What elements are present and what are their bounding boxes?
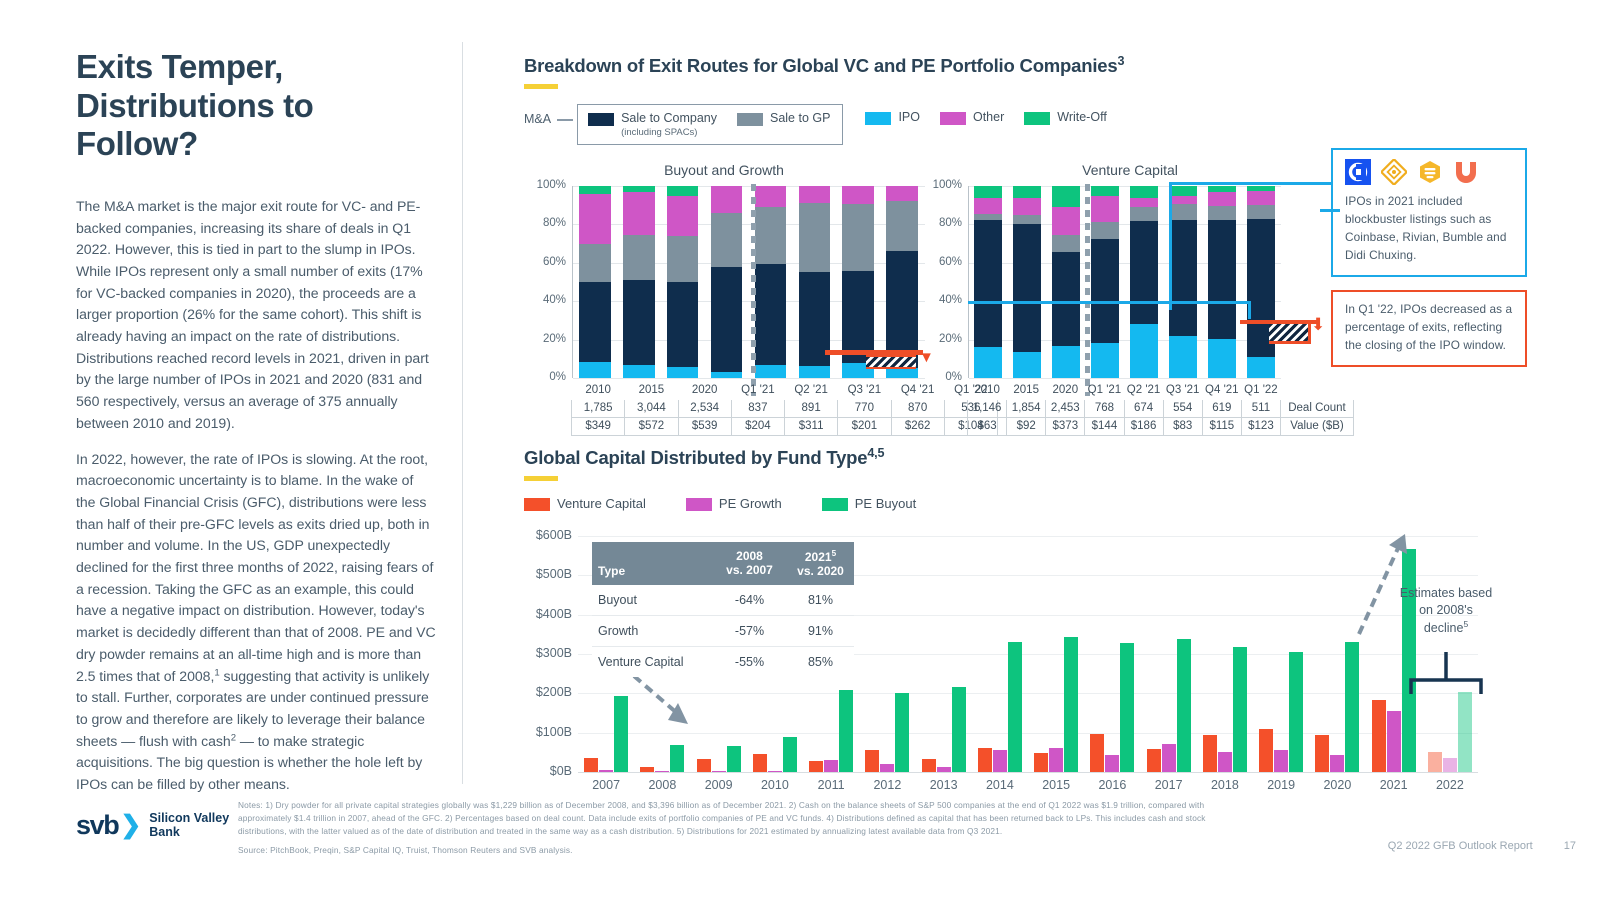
bar-group bbox=[1147, 536, 1191, 772]
buyout-annotation-hatch bbox=[866, 355, 916, 369]
bar-segment bbox=[1052, 252, 1080, 346]
bar bbox=[1064, 637, 1078, 772]
bar-group bbox=[969, 186, 1008, 378]
bar-segment bbox=[1091, 186, 1119, 196]
table-cell: $92 bbox=[1006, 418, 1046, 436]
bar-segment bbox=[1091, 239, 1119, 344]
table-row-label: Value ($B) bbox=[1280, 418, 1354, 436]
legend-swatch-sale-to-gp bbox=[737, 113, 763, 126]
bar-segment bbox=[1052, 186, 1080, 207]
table-cell: $539 bbox=[678, 418, 732, 436]
bar bbox=[1345, 642, 1359, 772]
bar-group bbox=[1086, 186, 1125, 378]
y-tick-label: 100% bbox=[528, 179, 566, 191]
chart-buyout-growth-title: Buyout and Growth bbox=[524, 162, 924, 178]
legend-item-sale-to-gp: Sale to GP bbox=[737, 111, 830, 127]
bar-segment bbox=[579, 186, 611, 194]
stacked-bar bbox=[667, 186, 699, 378]
chart-venture-capital-value-row: $63$92$373$144$186$83$115$123Value ($B) bbox=[968, 418, 1354, 436]
stacked-bar bbox=[711, 186, 743, 378]
stacked-bar bbox=[1130, 186, 1158, 378]
legend-label-sale-to-gp: Sale to GP bbox=[770, 111, 830, 127]
bar bbox=[865, 750, 879, 772]
legend-label-sale-to-company: Sale to Company bbox=[621, 111, 717, 125]
estimate-note-sup: 5 bbox=[1463, 619, 1468, 629]
bar-segment bbox=[1208, 220, 1236, 339]
chart-buyout-growth-value-row: $349$572$539$204$311$201$262$104 bbox=[572, 418, 998, 436]
bar bbox=[809, 761, 823, 772]
comparison-header-type: Type bbox=[592, 542, 712, 585]
legend-swatch-sale-to-company bbox=[588, 113, 614, 126]
comparison-table-body: Buyout-64%81%Growth-57%91%Venture Capita… bbox=[592, 585, 854, 677]
logo-line-1: Silicon Valley bbox=[149, 811, 229, 825]
bar-segment bbox=[1130, 186, 1158, 198]
gridline bbox=[578, 772, 1478, 773]
bar-segment bbox=[1169, 186, 1197, 196]
table-cell: $572 bbox=[624, 418, 678, 436]
chart-venture-capital-categories: 201020152020Q1 '21Q2 '21Q3 '21Q4 '21Q1 '… bbox=[968, 382, 1354, 400]
stacked-bar bbox=[623, 186, 655, 378]
bar-segment bbox=[623, 280, 655, 364]
table-cell: 554 bbox=[1163, 400, 1203, 418]
chart-venture-capital-title: Venture Capital bbox=[930, 162, 1330, 178]
stacked-bar bbox=[1091, 186, 1119, 378]
footer-page-number: 17 bbox=[1564, 840, 1576, 852]
bar-segment bbox=[623, 192, 655, 235]
bar-segment bbox=[711, 372, 743, 378]
bar bbox=[697, 759, 711, 772]
chart-buyout-growth-deal-count-row: 1,7853,0442,534837891770870536 bbox=[572, 400, 998, 418]
vc-annotation-arrow-icon: ⬇ bbox=[1311, 315, 1325, 335]
section-2-header: Global Capital Distributed by Fund Type4… bbox=[524, 446, 884, 481]
stacked-bar bbox=[974, 186, 1002, 378]
bar bbox=[895, 693, 909, 772]
bar-segment bbox=[1169, 220, 1197, 336]
legend-item-pe-growth: PE Growth bbox=[686, 496, 782, 512]
bar-segment bbox=[799, 186, 831, 203]
table-row: Venture Capital-55%85% bbox=[592, 646, 854, 677]
y-tick-label: $400B bbox=[502, 607, 572, 621]
table-cell: Q1 '21 bbox=[1084, 382, 1124, 400]
bar bbox=[978, 748, 992, 772]
bar bbox=[1049, 748, 1063, 772]
legend-label-pe-growth: PE Growth bbox=[719, 496, 782, 512]
fund-type-legend: Venture Capital PE Growth PE Buyout bbox=[524, 496, 916, 512]
section-2-title: Global Capital Distributed by Fund Type4… bbox=[524, 446, 884, 469]
table-cell: 91% bbox=[787, 616, 854, 646]
table-cell: 2015 bbox=[624, 382, 678, 400]
bar bbox=[1330, 755, 1344, 772]
bar-segment bbox=[755, 186, 787, 207]
stacked-bar bbox=[1247, 186, 1275, 378]
bar-segment bbox=[755, 365, 787, 378]
ma-label: M&A bbox=[524, 104, 551, 126]
table-cell: $115 bbox=[1202, 418, 1242, 436]
bar-segment bbox=[711, 213, 743, 267]
table-row-label bbox=[1280, 382, 1354, 400]
bar bbox=[1233, 647, 1247, 772]
table-cell: Q2 '21 bbox=[784, 382, 838, 400]
legend-other-group: IPO Other Write-Off bbox=[865, 104, 1106, 126]
chart-buyout-growth-period-divider bbox=[751, 184, 756, 396]
buyout-annotation-arrow-icon: ▼ bbox=[919, 349, 934, 366]
decline-arrow-icon bbox=[630, 672, 700, 732]
chart-buyout-growth: Buyout and Growth bbox=[524, 162, 924, 178]
bar-group bbox=[1090, 536, 1134, 772]
chart-venture-capital-table: 201020152020Q1 '21Q2 '21Q3 '21Q4 '21Q1 '… bbox=[968, 382, 1354, 436]
chart-venture-capital-period-divider bbox=[1085, 184, 1090, 396]
y-tick-label: 80% bbox=[924, 217, 962, 229]
legend-label-venture-capital: Venture Capital bbox=[557, 496, 646, 512]
bar-segment bbox=[1208, 192, 1236, 206]
bar-group bbox=[661, 186, 705, 378]
bar-segment bbox=[1169, 196, 1197, 205]
logo-chevron-icon: ❯ bbox=[120, 813, 141, 838]
bar bbox=[753, 754, 767, 772]
legend-sublabel-spacs: (including SPACs) bbox=[621, 127, 717, 139]
table-cell: -57% bbox=[712, 616, 787, 646]
table-cell: Q1 '21 bbox=[731, 382, 785, 400]
table-cell: 619 bbox=[1202, 400, 1242, 418]
footer-source-text: Source: PitchBook, Preqin, S&P Capital I… bbox=[238, 844, 1228, 857]
stacked-bar bbox=[1052, 186, 1080, 378]
bar bbox=[1120, 643, 1134, 772]
footer-meta: Q2 2022 GFB Outlook Report 17 bbox=[1388, 840, 1576, 852]
table-cell: $311 bbox=[784, 418, 838, 436]
bar-segment bbox=[974, 220, 1002, 348]
table-cell: 85% bbox=[787, 647, 854, 677]
bar bbox=[1090, 734, 1104, 772]
bar-segment bbox=[623, 235, 655, 280]
table-cell: 768 bbox=[1084, 400, 1124, 418]
bar bbox=[839, 690, 853, 772]
bar bbox=[1428, 752, 1442, 772]
bar bbox=[922, 759, 936, 772]
legend-swatch-pe-buyout bbox=[822, 498, 848, 511]
legend-label-pe-buyout: PE Buyout bbox=[855, 496, 916, 512]
rivian-icon bbox=[1381, 159, 1407, 185]
bar-segment bbox=[711, 186, 743, 213]
bar-group bbox=[1202, 186, 1241, 378]
bar-segment bbox=[667, 236, 699, 282]
section-1-header: Breakdown of Exit Routes for Global VC a… bbox=[524, 54, 1124, 89]
table-cell: $123 bbox=[1241, 418, 1281, 436]
table-cell: Growth bbox=[592, 616, 712, 646]
vc-callout-connector-top bbox=[1169, 182, 1331, 185]
legend-label-write-off: Write-Off bbox=[1057, 110, 1107, 126]
table-cell: 2,453 bbox=[1045, 400, 1085, 418]
section-2-rule bbox=[524, 476, 558, 481]
chart-venture-capital-deal-count-row: 1,1461,8542,453768674554619511Deal Count bbox=[968, 400, 1354, 418]
legend-item-venture-capital: Venture Capital bbox=[524, 496, 646, 512]
bar-segment bbox=[1247, 191, 1275, 205]
section-1-title-sup: 3 bbox=[1117, 54, 1124, 68]
stacked-bar bbox=[579, 186, 611, 378]
comparison-header-2008: 2008 vs. 2007 bbox=[712, 542, 787, 585]
comparison-table: Type 2008 vs. 2007 20215 vs. 2020 Buyout… bbox=[592, 542, 854, 677]
bar-segment bbox=[974, 347, 1002, 378]
legend-item-other: Other bbox=[940, 110, 1004, 126]
bar-segment bbox=[1247, 205, 1275, 218]
bar-group bbox=[573, 186, 617, 378]
bar bbox=[655, 771, 669, 772]
bar-group bbox=[922, 536, 966, 772]
bar-segment bbox=[799, 203, 831, 272]
legend-label-other: Other bbox=[973, 110, 1004, 126]
y-tick-label: 100% bbox=[924, 179, 962, 191]
bar bbox=[993, 750, 1007, 772]
paragraph-1: The M&A market is the major exit route f… bbox=[76, 196, 436, 435]
bumble-icon bbox=[1417, 159, 1443, 185]
table-cell: 1,146 bbox=[967, 400, 1007, 418]
bar-segment bbox=[1247, 357, 1275, 378]
bar-group bbox=[617, 186, 661, 378]
section-1-title-text: Breakdown of Exit Routes for Global VC a… bbox=[524, 55, 1117, 76]
table-cell: $349 bbox=[571, 418, 625, 436]
bar bbox=[1162, 744, 1176, 772]
bar bbox=[599, 770, 613, 772]
logo-line-2: Bank bbox=[149, 825, 180, 839]
table-cell: Q3 '21 bbox=[1163, 382, 1203, 400]
ma-legend-group: Sale to Company (including SPACs) Sale t… bbox=[577, 104, 843, 145]
bar bbox=[1177, 639, 1191, 772]
bar-segment bbox=[1052, 207, 1080, 235]
bar bbox=[584, 758, 598, 772]
bar-segment bbox=[1013, 352, 1041, 378]
bar bbox=[670, 745, 684, 772]
table-cell: 870 bbox=[891, 400, 945, 418]
bar-segment bbox=[1169, 204, 1197, 219]
table-cell: 511 bbox=[1241, 400, 1281, 418]
bar-segment bbox=[799, 366, 831, 378]
bar-segment bbox=[1208, 339, 1236, 378]
left-column: Exits Temper, Distributions to Follow? T… bbox=[76, 48, 436, 796]
callout-ipo-decline-text: In Q1 '22, IPOs decreased as a percentag… bbox=[1345, 301, 1513, 355]
estimate-note: Estimates based on 2008's decline5 bbox=[1398, 585, 1494, 637]
table-cell: 770 bbox=[837, 400, 891, 418]
stacked-bar bbox=[1169, 186, 1197, 378]
table-cell: 2010 bbox=[571, 382, 625, 400]
bar-segment bbox=[711, 267, 743, 373]
table-cell: $373 bbox=[1045, 418, 1085, 436]
body-copy: The M&A market is the major exit route f… bbox=[76, 196, 436, 796]
bar bbox=[824, 760, 838, 772]
bar-segment bbox=[667, 196, 699, 236]
bar bbox=[783, 737, 797, 772]
bar-group bbox=[1008, 186, 1047, 378]
y-tick-label: 60% bbox=[528, 256, 566, 268]
ma-dash-icon bbox=[557, 119, 573, 121]
bar-segment bbox=[1052, 346, 1080, 378]
table-cell: $186 bbox=[1124, 418, 1164, 436]
table-row: Growth-57%91% bbox=[592, 615, 854, 646]
slide: Exits Temper, Distributions to Follow? T… bbox=[0, 0, 1600, 900]
table-cell: Q2 '21 bbox=[1124, 382, 1164, 400]
estimate-note-text: Estimates based on 2008's decline bbox=[1400, 586, 1492, 635]
stacked-bar bbox=[755, 186, 787, 378]
bar bbox=[712, 771, 726, 772]
chart-buyout-growth-table: 201020152020Q1 '21Q2 '21Q3 '21Q4 '21Q1 '… bbox=[572, 382, 998, 436]
table-cell: $204 bbox=[731, 418, 785, 436]
page-title: Exits Temper, Distributions to Follow? bbox=[76, 48, 436, 164]
bar-group bbox=[1047, 186, 1086, 378]
bar-group bbox=[1034, 536, 1078, 772]
logo-mark: svb bbox=[76, 812, 118, 839]
bar-segment bbox=[974, 198, 1002, 214]
bar bbox=[640, 767, 654, 772]
y-tick-label: 40% bbox=[528, 294, 566, 306]
table-cell: 2,534 bbox=[678, 400, 732, 418]
bar bbox=[1203, 735, 1217, 772]
chart-venture-capital: Venture Capital bbox=[930, 162, 1330, 178]
table-row-label: Deal Count bbox=[1280, 400, 1354, 418]
legend-swatch-write-off bbox=[1024, 112, 1050, 125]
y-tick-label: $600B bbox=[502, 528, 572, 542]
bar-segment bbox=[667, 367, 699, 378]
vertical-divider bbox=[462, 42, 463, 784]
vc-callout-connector-mid bbox=[968, 301, 1251, 304]
table-cell: $83 bbox=[1163, 418, 1203, 436]
table-cell: 891 bbox=[784, 400, 838, 418]
bar bbox=[1034, 753, 1048, 772]
chart-venture-capital-plot bbox=[968, 186, 1280, 378]
comparison-header-2021-l2: vs. 2020 bbox=[797, 564, 844, 578]
section-1-rule bbox=[524, 84, 558, 89]
gridline bbox=[573, 378, 925, 379]
legend-label-ipo: IPO bbox=[898, 110, 920, 126]
stacked-bar bbox=[1208, 186, 1236, 378]
bar bbox=[1443, 758, 1457, 772]
bar bbox=[1387, 711, 1401, 772]
bar-group bbox=[705, 186, 749, 378]
stacked-bar bbox=[1013, 186, 1041, 378]
bar bbox=[1372, 700, 1386, 772]
table-cell: Q4 '21 bbox=[891, 382, 945, 400]
bar-segment bbox=[1169, 336, 1197, 378]
vc-callout-connector-drop bbox=[1248, 301, 1251, 319]
callout-ipo-2021-text: IPOs in 2021 included blockbuster listin… bbox=[1345, 193, 1513, 265]
bar-group bbox=[1203, 536, 1247, 772]
x-tick-label: 2022 bbox=[1415, 778, 1485, 792]
callout-ipo-2021-icons bbox=[1345, 159, 1513, 185]
table-cell: $144 bbox=[1084, 418, 1124, 436]
bar-segment bbox=[579, 194, 611, 244]
paragraph-2: In 2022, however, the rate of IPOs is sl… bbox=[76, 449, 436, 796]
bar bbox=[614, 696, 628, 772]
table-cell: Buyout bbox=[592, 585, 712, 615]
bar bbox=[1008, 642, 1022, 772]
table-cell: 1,785 bbox=[571, 400, 625, 418]
comparison-header-2021: 20215 vs. 2020 bbox=[787, 542, 854, 585]
bar-segment bbox=[579, 362, 611, 378]
bar bbox=[727, 746, 741, 772]
bar-segment bbox=[1091, 222, 1119, 239]
table-cell: Q4 '21 bbox=[1202, 382, 1242, 400]
table-cell: 674 bbox=[1124, 400, 1164, 418]
comparison-header-2008-l2: vs. 2007 bbox=[726, 563, 773, 577]
y-tick-label: $500B bbox=[502, 567, 572, 581]
table-cell: 837 bbox=[731, 400, 785, 418]
bar-segment bbox=[1130, 207, 1158, 220]
comparison-header-2008-l1: 2008 bbox=[736, 549, 763, 563]
bar-group bbox=[865, 536, 909, 772]
table-cell: 81% bbox=[787, 585, 854, 615]
bar bbox=[1147, 749, 1161, 772]
bar bbox=[1105, 755, 1119, 772]
bar-segment bbox=[667, 186, 699, 196]
legend-item-ipo: IPO bbox=[865, 110, 920, 126]
bar-segment bbox=[1013, 186, 1041, 198]
bar-segment bbox=[579, 244, 611, 282]
table-cell: Venture Capital bbox=[592, 647, 712, 677]
y-tick-label: 40% bbox=[924, 294, 962, 306]
y-tick-label: $100B bbox=[502, 725, 572, 739]
table-cell: 1,854 bbox=[1006, 400, 1046, 418]
bar-segment bbox=[623, 365, 655, 378]
bar-segment bbox=[1091, 343, 1119, 378]
legend-swatch-pe-growth bbox=[686, 498, 712, 511]
bar-segment bbox=[886, 186, 918, 201]
y-tick-label: $0B bbox=[502, 764, 572, 778]
y-tick-label: 80% bbox=[528, 217, 566, 229]
y-tick-label: 20% bbox=[528, 333, 566, 345]
bar bbox=[1458, 692, 1472, 772]
bar bbox=[1274, 750, 1288, 772]
legend-swatch-ipo bbox=[865, 112, 891, 125]
bar-segment bbox=[667, 282, 699, 367]
table-cell: -55% bbox=[712, 647, 787, 677]
y-tick-label: $300B bbox=[502, 646, 572, 660]
legend-item-sale-to-company: Sale to Company (including SPACs) bbox=[588, 111, 717, 139]
table-cell: $201 bbox=[837, 418, 891, 436]
bar bbox=[1259, 729, 1273, 772]
bar-group bbox=[1241, 186, 1280, 378]
bar-segment bbox=[1013, 224, 1041, 352]
bar-segment bbox=[1130, 198, 1158, 208]
svb-logo: svb ❯ Silicon Valley Bank bbox=[76, 812, 229, 839]
table-cell: 2020 bbox=[678, 382, 732, 400]
bar bbox=[880, 764, 894, 772]
bar-segment bbox=[886, 368, 918, 378]
legend-swatch-other bbox=[940, 112, 966, 125]
bar-segment bbox=[1130, 221, 1158, 325]
footer-notes: Notes: 1) Dry powder for all private cap… bbox=[238, 799, 1228, 856]
bar-segment bbox=[1052, 235, 1080, 252]
table-cell: 2010 bbox=[967, 382, 1007, 400]
legend-item-write-off: Write-Off bbox=[1024, 110, 1107, 126]
bar-group bbox=[1259, 536, 1303, 772]
bar-segment bbox=[1130, 324, 1158, 378]
y-tick-label: $200B bbox=[502, 685, 572, 699]
legend-item-pe-buyout: PE Buyout bbox=[822, 496, 916, 512]
bar-segment bbox=[1013, 198, 1041, 215]
callout-ipo-2021: IPOs in 2021 included blockbuster listin… bbox=[1331, 148, 1527, 277]
bar-segment bbox=[842, 271, 874, 362]
bar-segment bbox=[755, 264, 787, 365]
bar-group bbox=[1315, 536, 1359, 772]
table-row: Buyout-64%81% bbox=[592, 585, 854, 615]
gridline bbox=[969, 378, 1281, 379]
table-cell: -64% bbox=[712, 585, 787, 615]
bar bbox=[1315, 735, 1329, 772]
footer-notes-text: Notes: 1) Dry powder for all private cap… bbox=[238, 799, 1228, 838]
bar-segment bbox=[1091, 196, 1119, 222]
chart-venture-capital-bars bbox=[969, 186, 1280, 378]
y-tick-label: 60% bbox=[924, 256, 962, 268]
coinbase-icon bbox=[1345, 159, 1371, 185]
table-cell: $63 bbox=[967, 418, 1007, 436]
table-cell: Q3 '21 bbox=[837, 382, 891, 400]
